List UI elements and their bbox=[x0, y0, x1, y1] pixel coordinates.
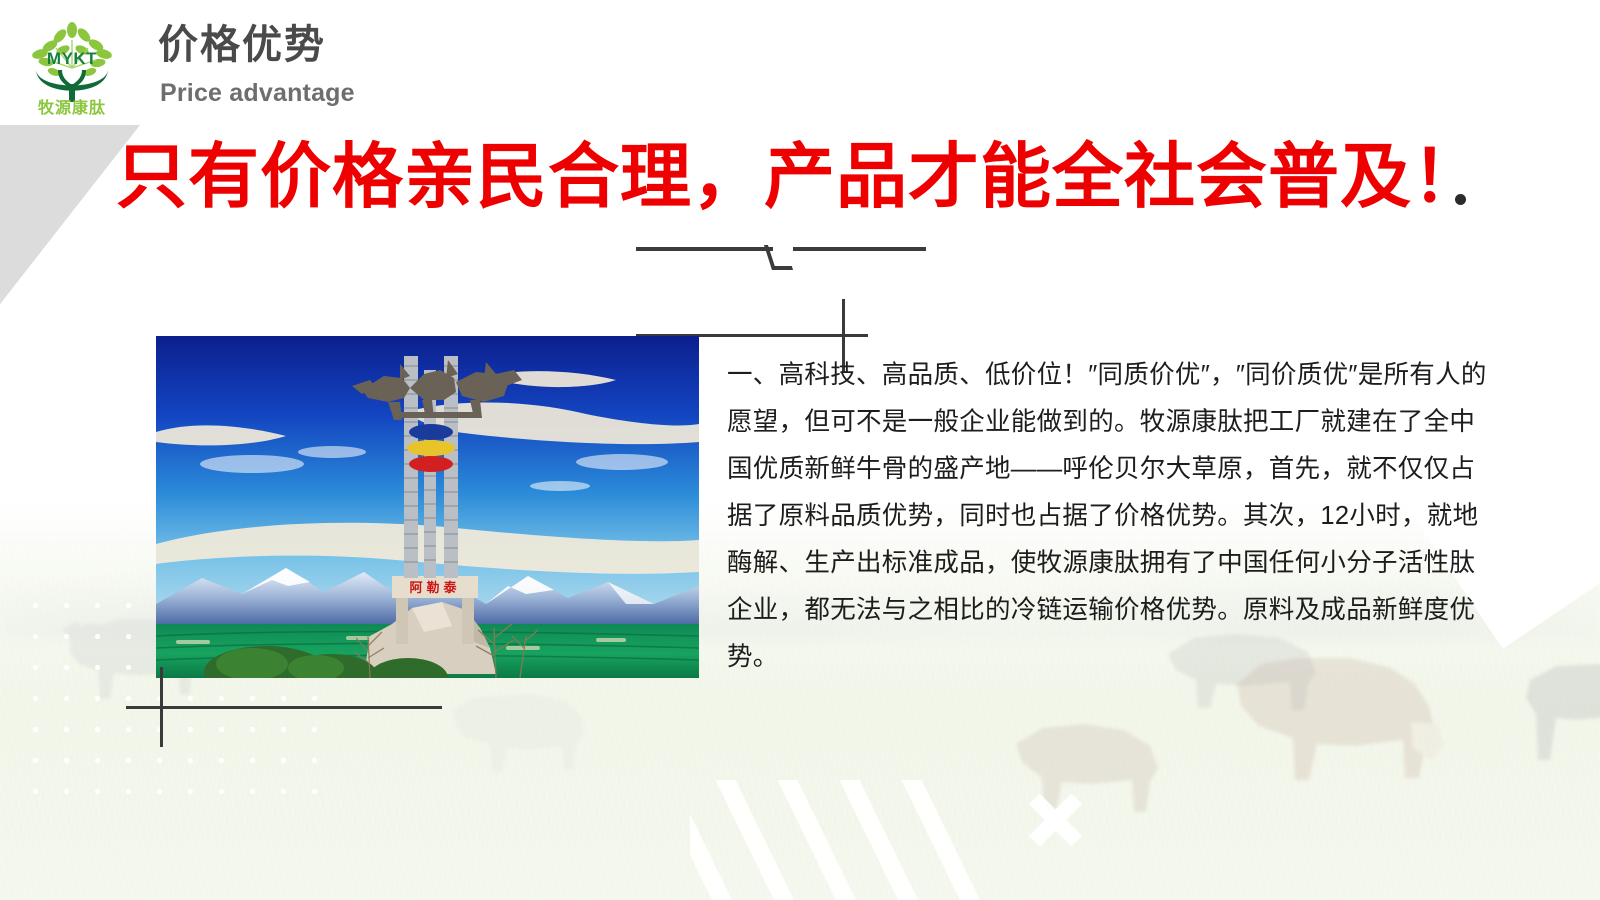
bracket-vertical-line bbox=[160, 667, 163, 747]
tree-with-hands-logo: MYKT 牧源康肽 bbox=[16, 6, 128, 118]
divider-line-left bbox=[636, 247, 773, 251]
white-x-mark bbox=[1028, 792, 1084, 848]
svg-text:MYKT: MYKT bbox=[47, 49, 97, 68]
bracket-horizontal-line bbox=[126, 706, 442, 709]
background-cow-far-right bbox=[1520, 640, 1600, 790]
ali-monument-grassland-photo: 阿勒泰 bbox=[156, 336, 699, 678]
white-diagonal-stripes bbox=[690, 780, 1080, 900]
body-copy: 一、高科技、高品质、低价位！″同质价优″，″同价质优″是所有人的愿望，但可不是一… bbox=[727, 352, 1487, 681]
slide-canvas: MYKT 牧源康肽 价格优势 Price advantage 只有价格亲民合理，… bbox=[0, 0, 1600, 900]
background-cow-mid bbox=[430, 672, 610, 802]
headline-text: 只有价格亲民合理，产品才能全社会普及！ bbox=[0, 136, 1600, 220]
slide-header: MYKT 牧源康肽 价格优势 Price advantage bbox=[0, 0, 1600, 125]
headline-trailing-dot bbox=[1455, 194, 1466, 205]
body-paragraph: 一、高科技、高品质、低价位！″同质价优″，″同价质优″是所有人的愿望，但可不是一… bbox=[727, 352, 1487, 681]
svg-text:牧源康肽: 牧源康肽 bbox=[38, 98, 106, 117]
divider-line-right bbox=[793, 247, 926, 251]
chevron-divider bbox=[636, 240, 926, 266]
photo-frame: 阿勒泰 bbox=[156, 336, 699, 678]
svg-text:阿勒泰: 阿勒泰 bbox=[409, 580, 460, 595]
mykt-logo: MYKT 牧源康肽 bbox=[16, 6, 128, 118]
cross-bracket-bottom-left bbox=[126, 636, 442, 746]
page-title-en: Price advantage bbox=[160, 78, 355, 108]
page-title-cn: 价格优势 bbox=[158, 22, 326, 68]
